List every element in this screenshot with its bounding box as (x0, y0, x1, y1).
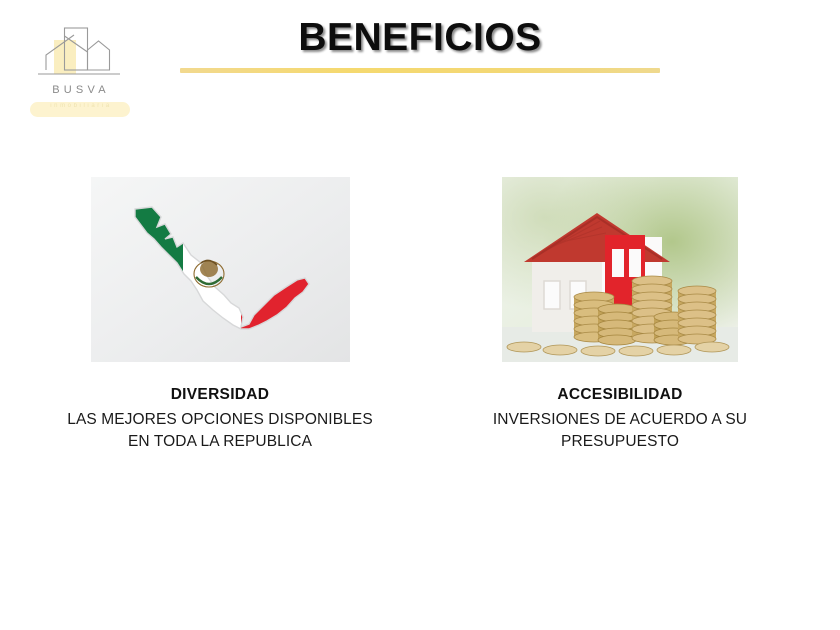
building-outline-icon (24, 22, 134, 84)
house-with-coin-stacks-image (502, 177, 738, 362)
benefit-heading: ACCESIBILIDAD (452, 386, 788, 404)
logo-tagline-pill: inmobiliaria (30, 102, 130, 117)
company-logo: BUSVA inmobiliaria (24, 22, 134, 122)
benefit-description-line: PRESUPUESTO (452, 431, 788, 453)
title-underline-rule (180, 68, 660, 73)
benefit-column-diversidad: DIVERSIDAD LAS MEJORES OPCIONES DISPONIB… (20, 177, 420, 453)
logo-wordmark: BUSVA (24, 84, 134, 96)
logo-tagline: inmobiliaria (30, 103, 130, 109)
benefit-description-line: LAS MEJORES OPCIONES DISPONIBLES (20, 409, 420, 431)
page-title: BENEFICIOS (180, 16, 660, 60)
benefit-heading: DIVERSIDAD (20, 386, 420, 404)
mexico-flag-map-image (91, 177, 350, 362)
benefit-description: INVERSIONES DE ACUERDO A SU PRESUPUESTO (452, 409, 788, 453)
benefit-description: LAS MEJORES OPCIONES DISPONIBLES EN TODA… (20, 409, 420, 453)
house-coins-graphic (502, 177, 738, 362)
benefit-description-line: EN TODA LA REPUBLICA (20, 431, 420, 453)
benefit-column-accesibilidad: ACCESIBILIDAD INVERSIONES DE ACUERDO A S… (452, 177, 788, 453)
benefit-description-line: INVERSIONES DE ACUERDO A SU (452, 409, 788, 431)
presentation-slide: BUSVA inmobiliaria BENEFICIOS (0, 0, 840, 630)
mexico-map-graphic (91, 177, 350, 362)
